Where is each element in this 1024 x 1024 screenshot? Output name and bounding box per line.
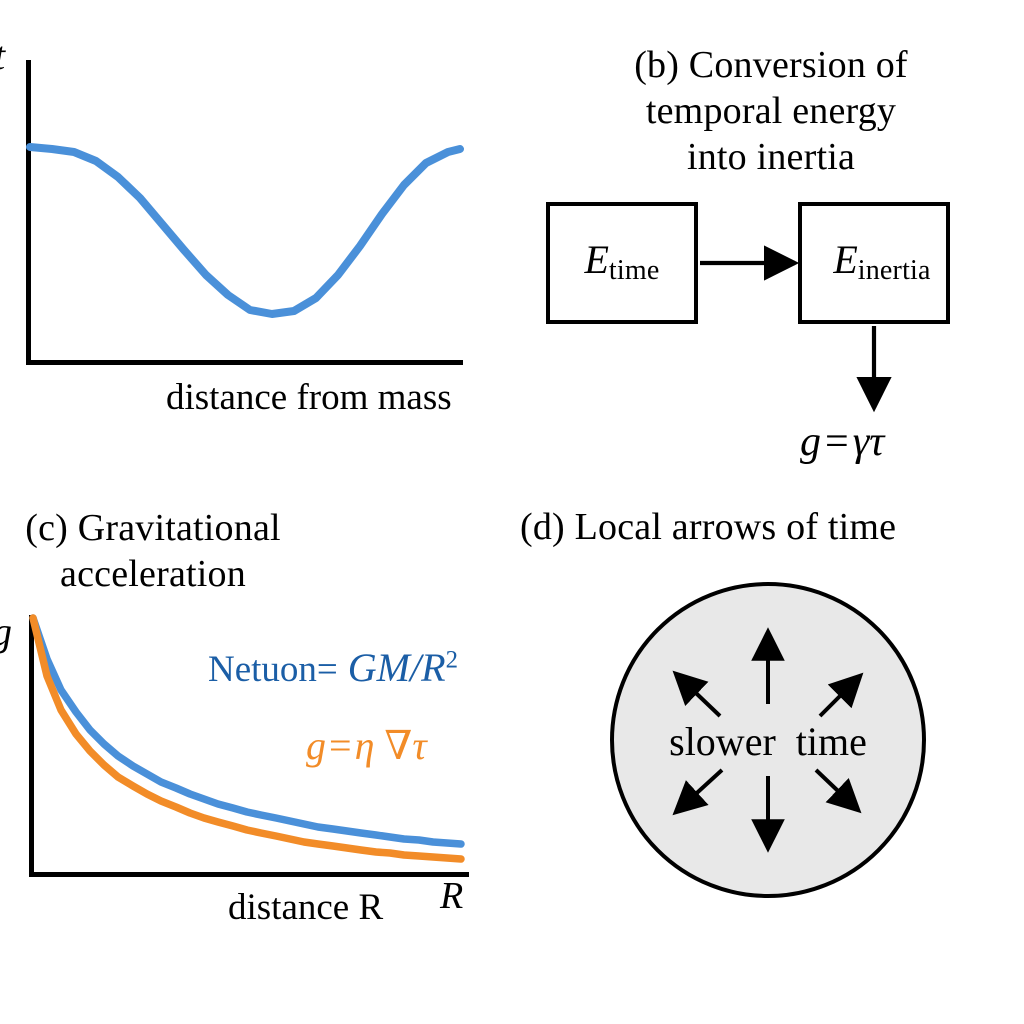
- legend-eta-lhs: g: [306, 723, 326, 768]
- panel-d-local-arrows-of-time: (d) Local arrows of time slower time: [512, 500, 1024, 1024]
- panel-b-arrows: [512, 0, 1024, 500]
- arrow-down-left-icon: [676, 770, 722, 812]
- panel-c-x-axis-extra-label: R: [440, 874, 463, 918]
- panel-c-x-axis-label: distance R: [228, 886, 383, 929]
- legend-eta-rhs: η ∇τ: [355, 723, 427, 768]
- legend-newton-formula-base: GM/R: [348, 645, 446, 690]
- figure-root: t distance from mass (b) Conversion of t…: [0, 0, 1024, 1024]
- panel-c-plot: [0, 500, 512, 1024]
- legend-eta: g=η ∇τ: [306, 722, 427, 769]
- legend-newton: Netuon= GM/R2: [208, 644, 458, 691]
- slower-time-label: slower time: [610, 718, 926, 765]
- legend-newton-text: Netuon=: [208, 649, 338, 690]
- legend-newton-exponent: 2: [446, 646, 458, 673]
- result-rhs: γτ: [853, 419, 885, 465]
- panel-c-gravitational-acceleration: (c) Gravitational acceleration g distanc…: [0, 500, 512, 1024]
- panel-a-time-dilation: t distance from mass: [0, 0, 512, 500]
- panel-b-energy-conversion: (b) Conversion of temporal energy into i…: [512, 0, 1024, 500]
- panel-a-plot: [0, 0, 512, 500]
- panel-a-curve: [30, 147, 460, 314]
- panel-a-y-axis-label: t: [0, 32, 5, 79]
- legend-eta-op: =: [326, 723, 355, 768]
- legend-newton-formula: GM/R2: [338, 645, 458, 690]
- panel-d-title: (d) Local arrows of time: [520, 504, 896, 550]
- panel-b-result-formula: g=γτ: [800, 418, 884, 466]
- panel-a-x-axis-label: distance from mass: [166, 376, 452, 419]
- panel-c-y-axis-label: g: [0, 608, 12, 655]
- arrow-up-left-icon: [676, 674, 720, 716]
- arrow-down-right-icon: [816, 770, 858, 810]
- result-op: =: [821, 419, 853, 465]
- arrow-up-right-icon: [820, 676, 860, 716]
- result-lhs: g: [800, 419, 821, 465]
